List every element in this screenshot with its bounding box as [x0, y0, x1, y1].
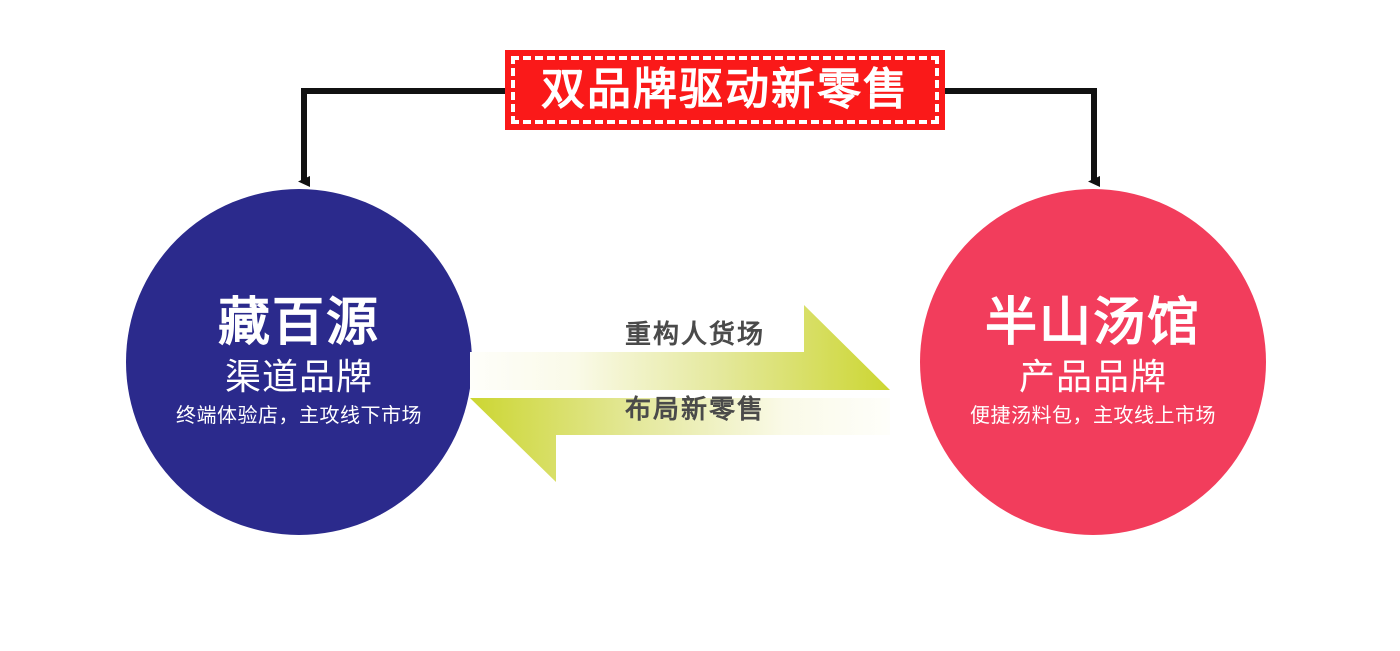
- brand-description-right: 便捷汤料包，主攻线上市场: [970, 404, 1216, 428]
- brand-description-left: 终端体验店，主攻线下市场: [176, 404, 422, 428]
- flow-label-left: 布局新零售: [625, 389, 765, 426]
- brand-name-right: 半山汤馆: [985, 296, 1201, 351]
- connector-right: [945, 91, 1094, 181]
- brand-circle-right[interactable]: 半山汤馆 产品品牌 便捷汤料包，主攻线上市场: [920, 189, 1266, 535]
- brand-type-left: 渠道品牌: [225, 357, 373, 397]
- brand-name-left: 藏百源: [218, 296, 380, 351]
- page-title: 双品牌驱动新零售: [541, 68, 909, 112]
- brand-circle-left[interactable]: 藏百源 渠道品牌 终端体验店，主攻线下市场: [126, 189, 472, 535]
- diagram-canvas: 双品牌驱动新零售 藏百源 渠道品牌 终端体验店，主攻线下市场 半山汤馆 产品品牌…: [0, 0, 1400, 651]
- brand-type-right: 产品品牌: [1019, 357, 1167, 397]
- connector-left: [304, 91, 505, 181]
- flow-label-right: 重构人货场: [625, 314, 765, 351]
- title-banner: 双品牌驱动新零售: [505, 50, 945, 130]
